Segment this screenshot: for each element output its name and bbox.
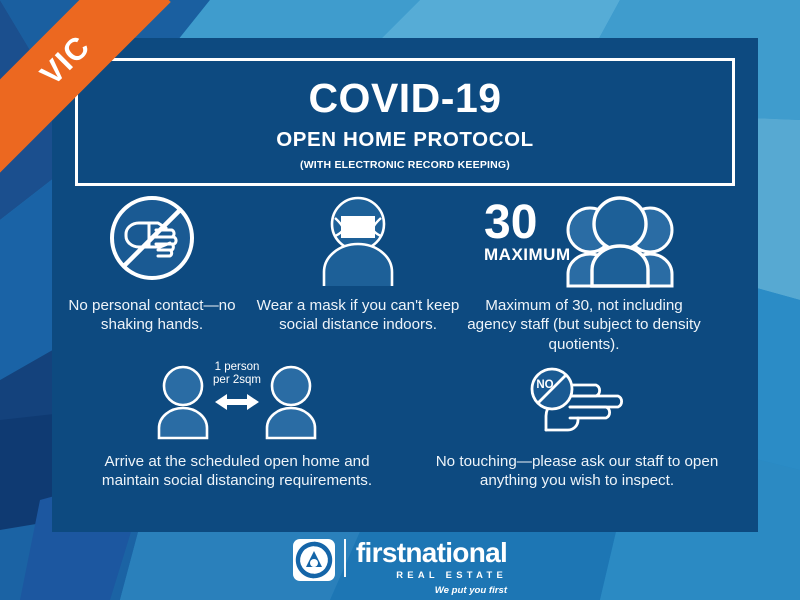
social-distance-two-people-icon: 1 person per 2sqm	[149, 358, 325, 438]
no-touching-art: NO	[512, 358, 642, 438]
page-title: COVID-19	[308, 77, 501, 120]
social-distance-art: 1 person per 2sqm	[149, 358, 325, 438]
header-frame: COVID-19 OPEN HOME PROTOCOL (WITH ELECTR…	[75, 58, 735, 186]
logo-tagline: We put you first	[356, 585, 507, 596]
footer-logo-area: firstnational REAL ESTATE We put you fir…	[0, 534, 800, 600]
max-count-label: MAXIMUM	[484, 245, 571, 264]
logo-brand-subtitle: REAL ESTATE	[356, 569, 507, 580]
no-handshake-icon	[100, 190, 204, 286]
distance-badge-line1: 1 person	[215, 361, 260, 373]
no-badge-label: NO	[536, 379, 553, 391]
protocol-item-no-contact: No personal contact—no shaking hands.	[52, 190, 252, 354]
group-of-people-icon: 30 MAXIMUM	[482, 190, 686, 286]
protocol-item-text: No touching—please ask our staff to open…	[432, 452, 722, 491]
protocol-item-mask: Wear a mask if you can't keep social dis…	[252, 190, 464, 354]
page-subtitle: OPEN HOME PROTOCOL	[276, 128, 534, 152]
no-handshake-art	[100, 190, 204, 286]
distance-badge-line2: per 2sqm	[213, 374, 261, 386]
protocol-item-max-30: 30 MAXIMUM Maximum of 30, not including …	[464, 190, 704, 354]
first-national-logo: firstnational REAL ESTATE We put you fir…	[293, 539, 507, 596]
protocol-item-text: No personal contact—no shaking hands.	[52, 296, 252, 335]
mask-art	[302, 190, 414, 286]
max-count-number: 30	[484, 196, 537, 249]
protocol-item-social-distance: 1 person per 2sqm Arrive at the schedule…	[92, 358, 382, 491]
no-touching-hand-icon: NO	[512, 358, 642, 438]
first-national-logo-mark	[293, 539, 335, 581]
logo-brand-name: firstnational	[356, 539, 507, 567]
max-30-art: 30 MAXIMUM	[482, 190, 686, 286]
person-wearing-mask-icon	[302, 190, 414, 286]
poster-canvas: COVID-19 OPEN HOME PROTOCOL (WITH ELECTR…	[0, 0, 800, 600]
logo-divider	[344, 539, 346, 577]
page-note: (WITH ELECTRONIC RECORD KEEPING)	[300, 159, 510, 171]
protocol-row-2: 1 person per 2sqm Arrive at the schedule…	[52, 358, 758, 491]
protocol-row-1: No personal contact—no shaking hands.	[52, 190, 758, 354]
protocol-item-text: Maximum of 30, not including agency staf…	[464, 296, 704, 354]
protocol-item-text: Wear a mask if you can't keep social dis…	[252, 296, 464, 335]
protocol-item-no-touching: NO No touching—please ask our staff to o…	[432, 358, 722, 491]
protocol-item-text: Arrive at the scheduled open home and ma…	[92, 452, 382, 491]
